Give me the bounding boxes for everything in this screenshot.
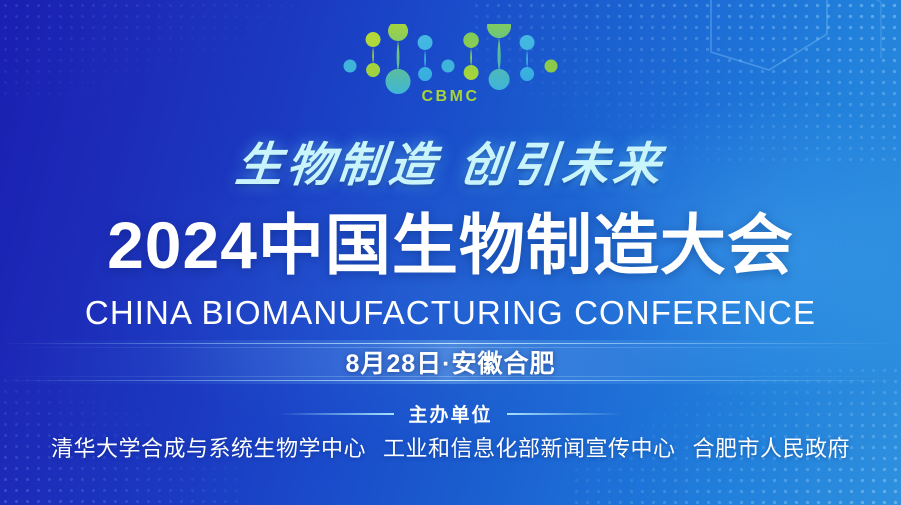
organizer-item: 清华大学合成与系统生物学中心 (51, 431, 366, 463)
hexagon-outline-icon (641, 0, 901, 104)
slogan-calligraphy: 生物制造 创引未来 (0, 126, 901, 195)
divider-left (279, 413, 394, 415)
conference-poster: CBMC 生物制造 创引未来 2024中国生物制造大会 CHINA BIOMAN… (0, 0, 901, 505)
divider-right (507, 413, 622, 415)
organizers-heading: 主办单位 (408, 400, 492, 427)
page-title-chinese: 2024中国生物制造大会 (0, 212, 901, 278)
organizer-item: 合肥市人民政府 (693, 431, 851, 463)
date-venue-band: 8月28日·安徽合肥 (0, 340, 901, 384)
logo-acronym: CBMC (341, 88, 561, 106)
logo: CBMC (341, 24, 561, 120)
organizer-item: 工业和信息化部新闻宣传中心 (383, 431, 676, 463)
dot-grid-top-left (0, 0, 300, 100)
organizers-heading-row: 主办单位 (0, 400, 901, 427)
page-title-english: CHINA BIOMANUFACTURING CONFERENCE (0, 296, 901, 329)
organizers-list: 清华大学合成与系统生物学中心 工业和信息化部新闻宣传中心 合肥市人民政府 (0, 431, 901, 463)
date-venue-text: 8月28日·安徽合肥 (0, 340, 901, 384)
